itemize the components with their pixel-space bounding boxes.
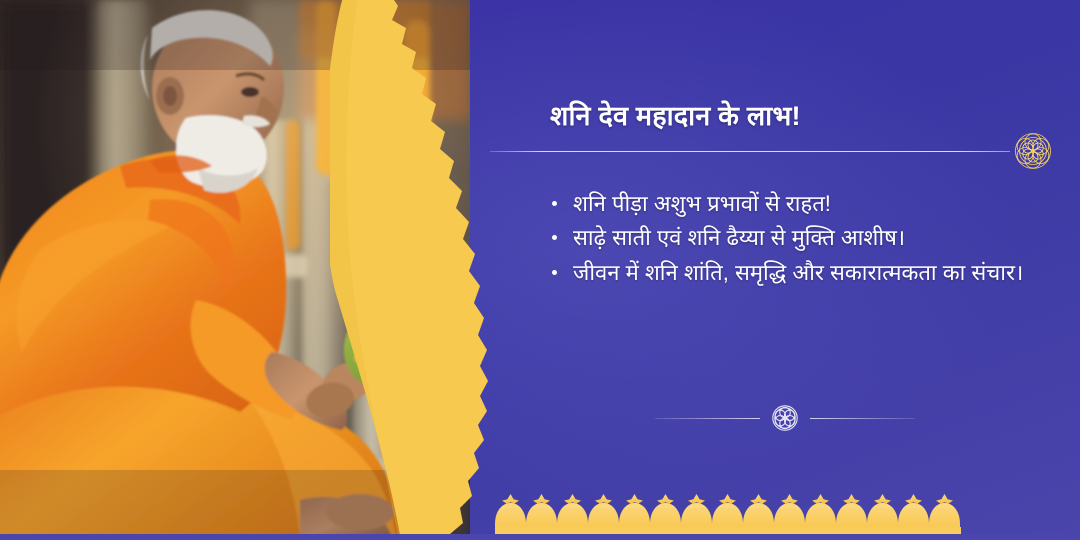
bullet-dot-icon (552, 270, 557, 275)
list-item: साढ़े साती एवं शनि ढैय्या से मुक्ति आशीष… (545, 222, 1065, 254)
benefit-text: साढ़े साती एवं शनि ढैय्या से मुक्ति आशीष… (573, 222, 1065, 254)
bottom-strip (0, 534, 1080, 540)
divider-line-left (655, 418, 760, 419)
page-title: शनि देव महादान के लाभ! (550, 100, 1070, 134)
content-panel: शनि देव महादान के लाभ! (490, 0, 1080, 540)
shani-dev-mahadan-banner: शनि देव महादान के लाभ! (0, 0, 1080, 540)
list-item: जीवन में शनि शांति, समृद्धि और सकारात्मक… (545, 257, 1065, 289)
title-underline-rule (490, 142, 1060, 160)
bullet-dot-icon (552, 235, 557, 240)
list-item: शनि पीड़ा अशुभ प्रभावों से राहत! (545, 188, 1065, 220)
rule-line (490, 151, 1010, 152)
benefits-list: शनि पीड़ा अशुभ प्रभावों से राहत! साढ़े स… (545, 188, 1065, 291)
bullet-dot-icon (552, 201, 557, 206)
benefit-text: शनि पीड़ा अशुभ प्रभावों से राहत! (573, 188, 1065, 220)
flower-divider (625, 398, 945, 438)
six-petal-flower-icon (766, 399, 804, 437)
mandala-flower-icon (1006, 124, 1060, 178)
benefit-text: जीवन में शनि शांति, समृद्धि और सकारात्मक… (573, 257, 1065, 289)
divider-line-right (810, 418, 915, 419)
